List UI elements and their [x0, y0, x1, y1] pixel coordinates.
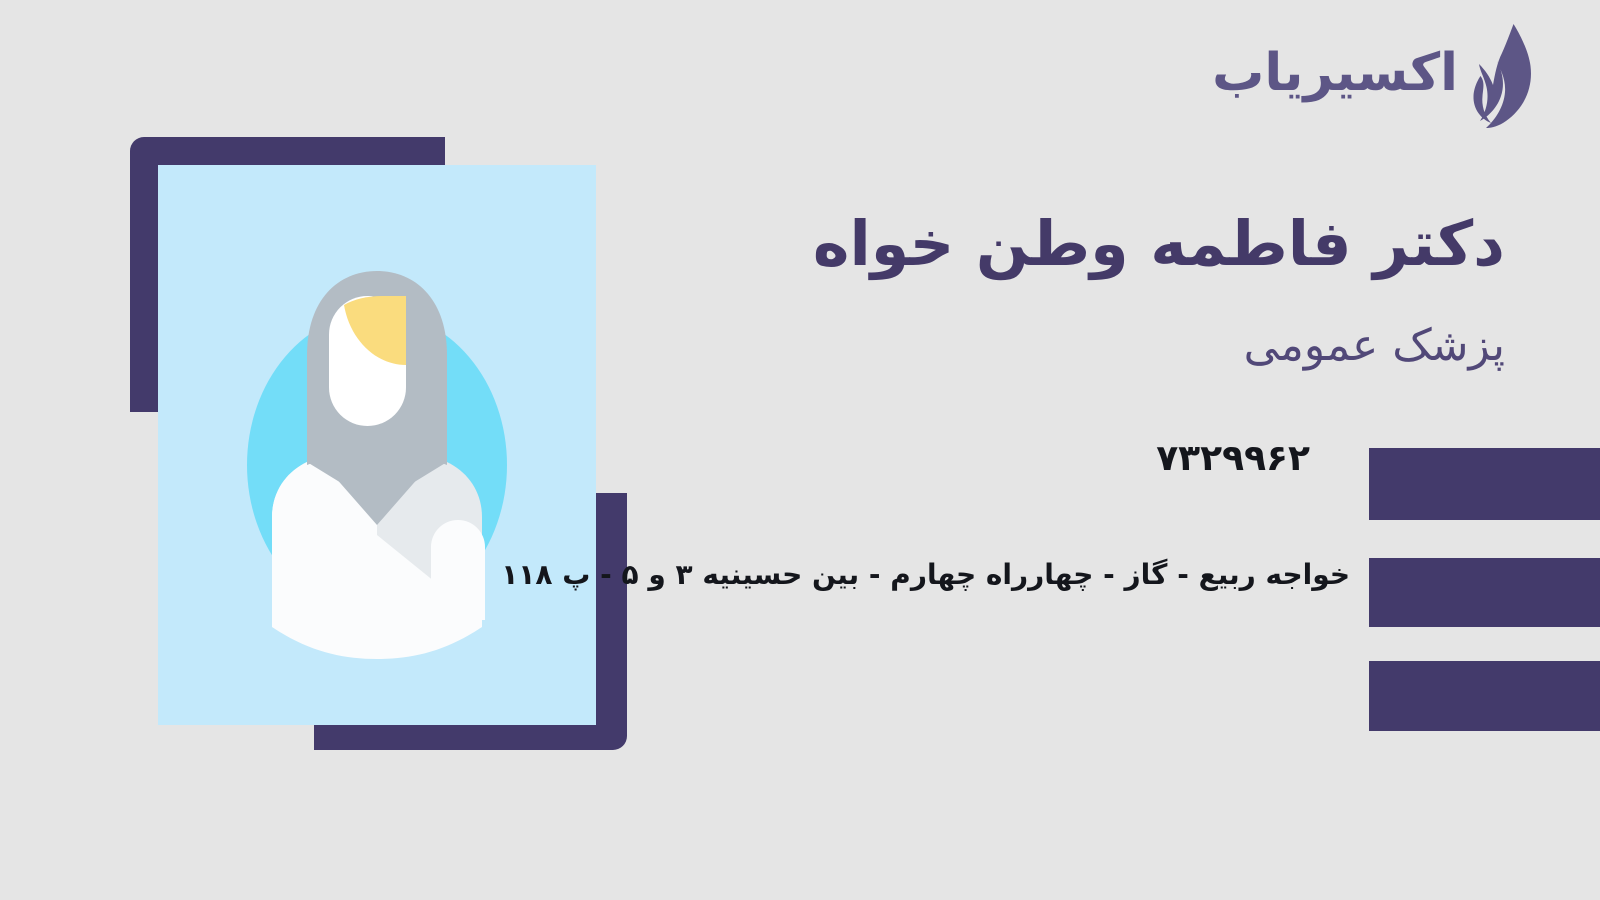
- doctor-illustration: [130, 137, 630, 752]
- doctor-address: خواجه ربیع - گاز - چهارراه چهارم - بین ح…: [501, 558, 1350, 591]
- doctor-info: دکتر فاطمه وطن خواه پزشک عمومی: [625, 205, 1505, 374]
- decorative-bar-3: [1369, 661, 1600, 731]
- doctor-name: دکتر فاطمه وطن خواه: [625, 205, 1505, 283]
- female-doctor-avatar-icon: [158, 165, 596, 725]
- decorative-bar-2: [1369, 558, 1600, 627]
- doctor-photo-frame: [158, 165, 596, 725]
- brand-logo[interactable]: اکسیریاب: [1212, 22, 1538, 130]
- decorative-bar-1: [1369, 448, 1600, 520]
- flame-droplet-icon: [1466, 22, 1538, 130]
- doctor-specialty: پزشک عمومی: [625, 317, 1505, 374]
- doctor-phone[interactable]: ۷۳۲۹۹۶۲: [1156, 438, 1310, 479]
- doctor-profile-card: اکسیریاب: [0, 0, 1600, 900]
- brand-name: اکسیریاب: [1212, 47, 1458, 99]
